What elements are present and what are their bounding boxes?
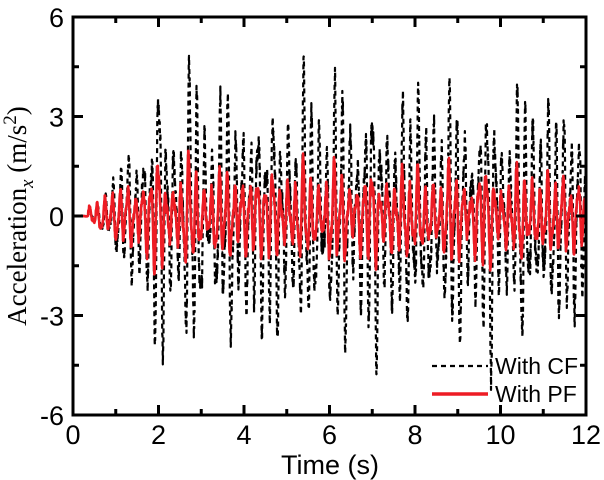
x-tick-label: 8: [407, 420, 422, 450]
chart-figure: 024681012-6-3036 With CFWith PF Time (s)…: [0, 0, 604, 480]
x-axis-label: Time (s): [281, 450, 379, 480]
y-tick-label: -3: [40, 302, 64, 332]
acceleration-time-history-chart: 024681012-6-3036 With CFWith PF Time (s)…: [0, 0, 604, 480]
y-tick-label: 3: [49, 103, 64, 133]
legend-label-2: With PF: [495, 381, 577, 407]
x-tick-label: 2: [151, 420, 166, 450]
x-tick-label: 6: [322, 420, 337, 450]
x-tick-label: 12: [571, 420, 601, 450]
x-tick-label: 0: [65, 420, 80, 450]
legend-label-1: With CF: [495, 353, 578, 379]
y-tick-label: -6: [40, 401, 64, 431]
y-tick-label: 6: [49, 3, 64, 33]
x-tick-label: 10: [485, 420, 515, 450]
y-tick-label: 0: [49, 202, 64, 232]
x-tick-label: 4: [236, 420, 251, 450]
